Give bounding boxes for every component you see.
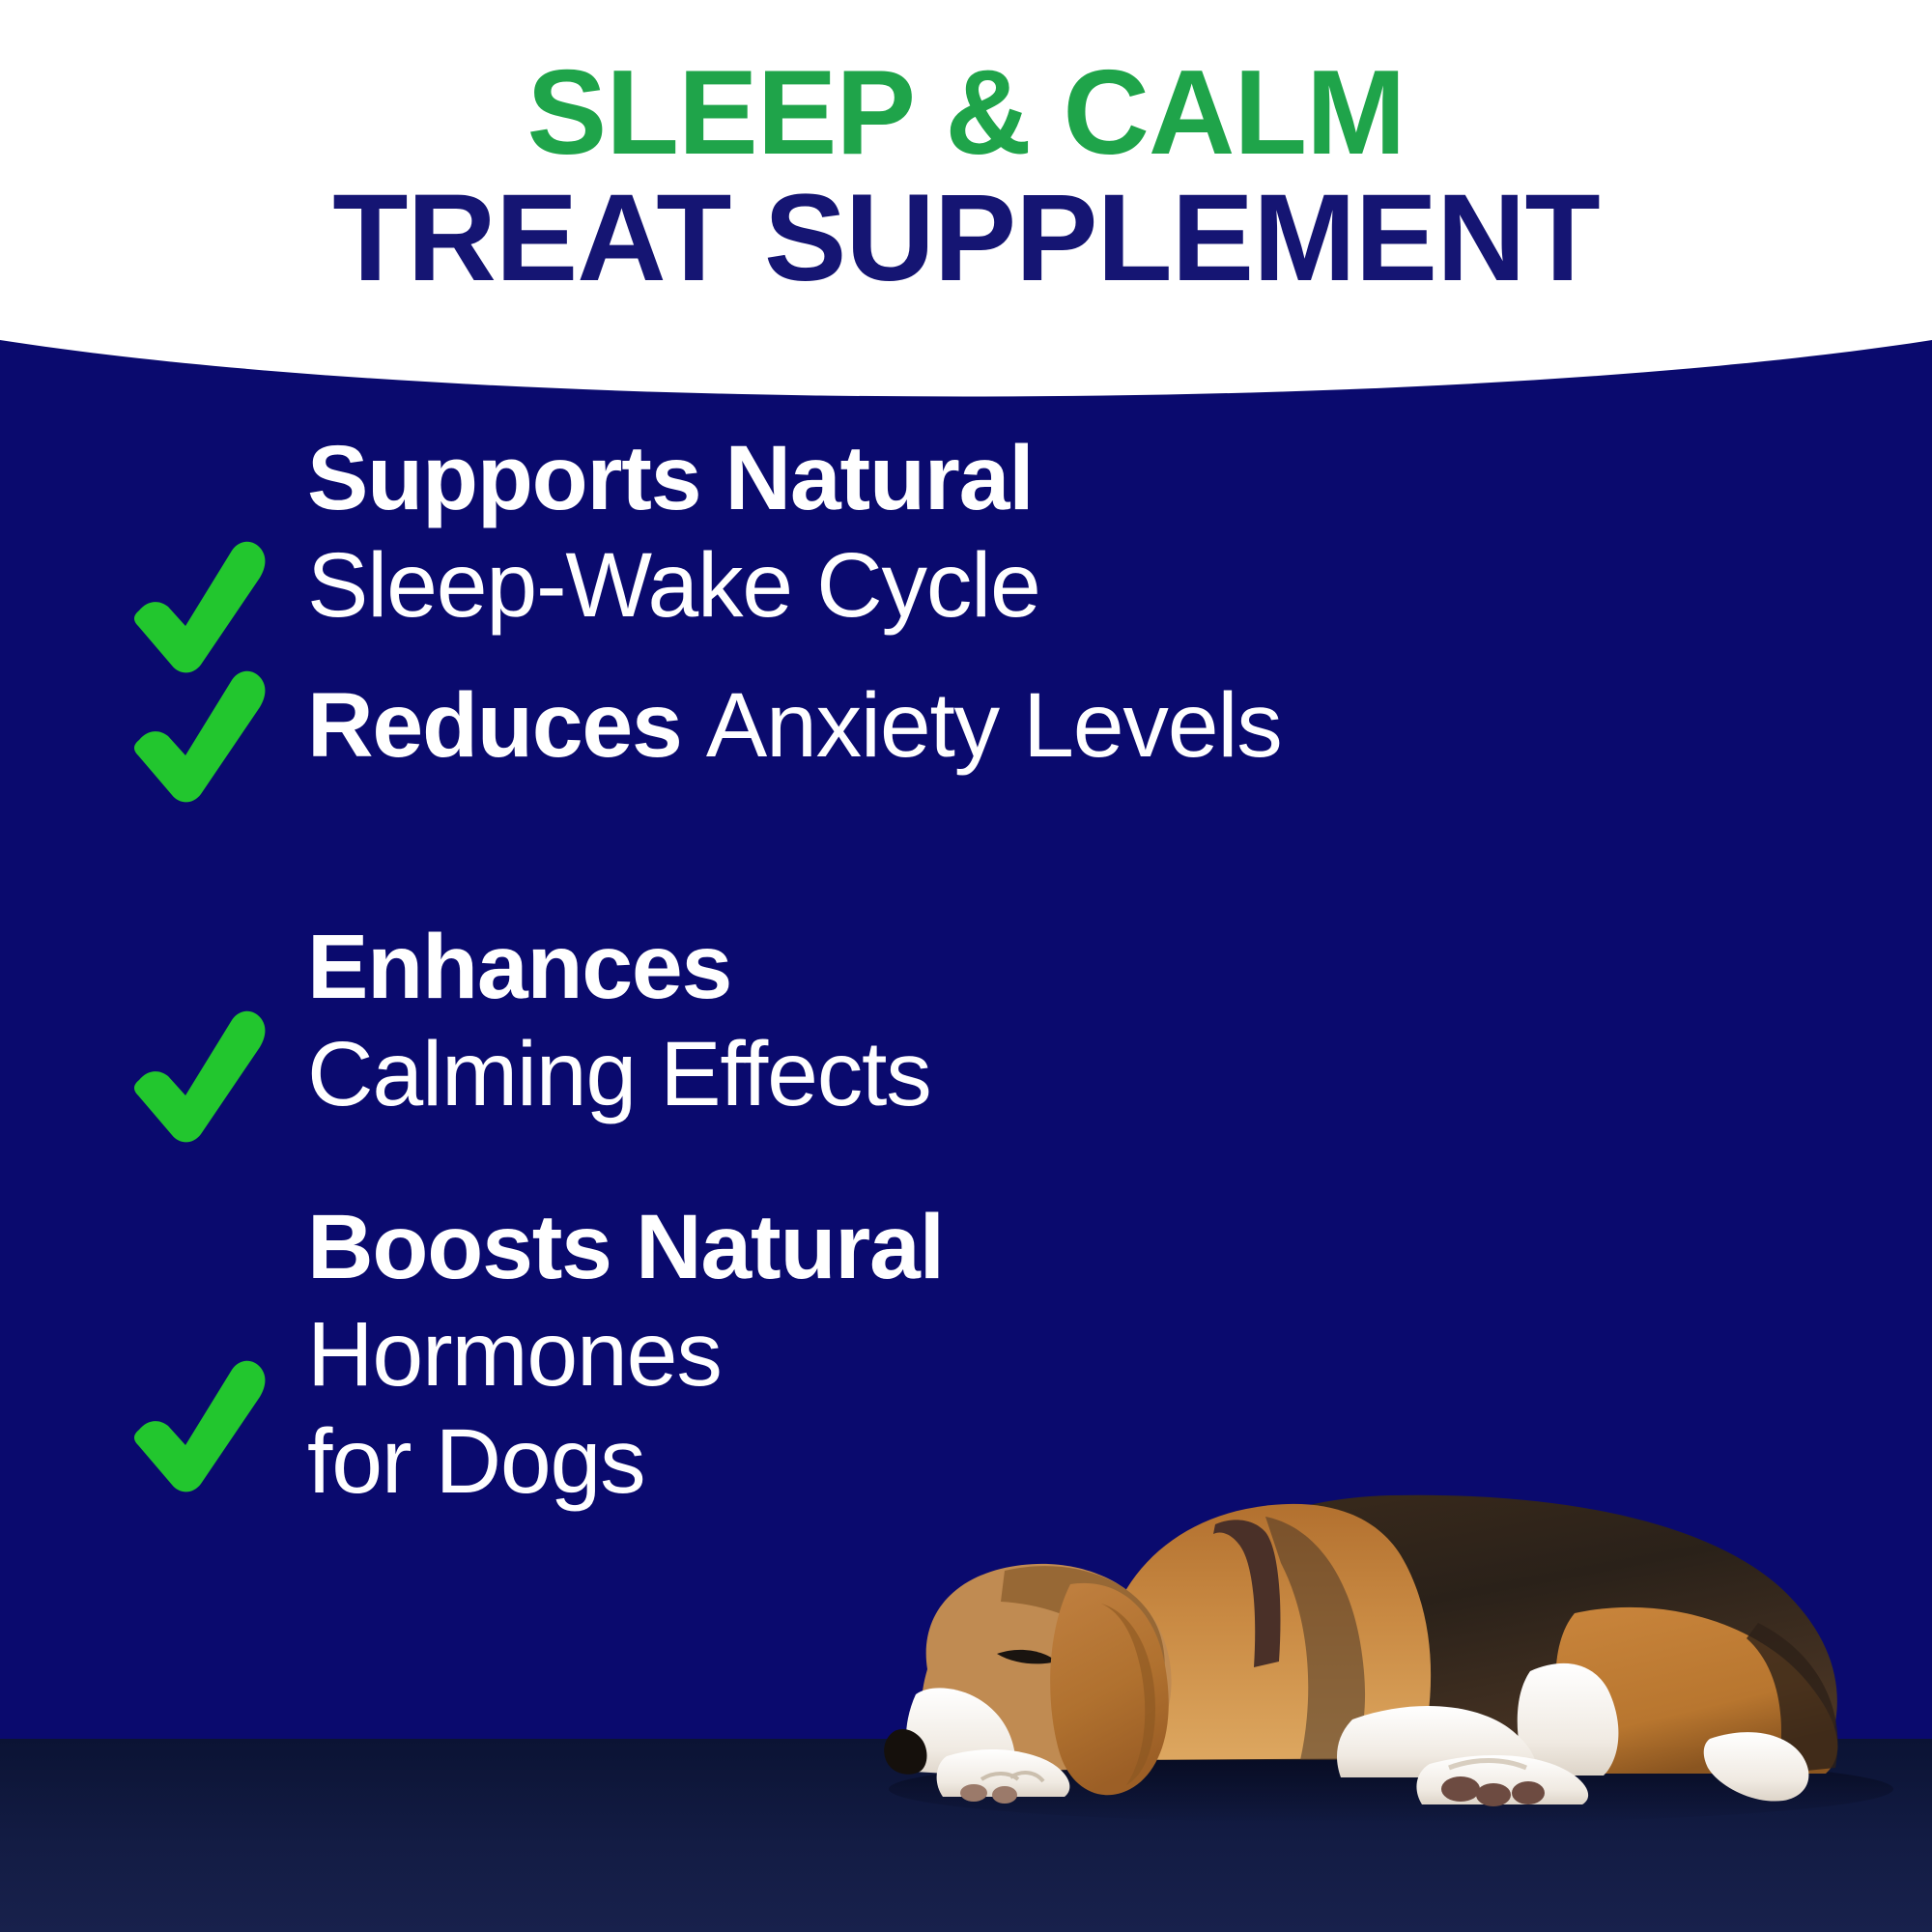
benefit-line: Supports Natural [307,425,1546,532]
checkmark-icon [126,659,270,804]
benefit-item: Enhances Calming Effects [0,914,1546,1136]
benefit-text: Boosts Natural Hormones for Dogs [307,1194,1546,1516]
benefit-line: Calming Effects [307,1021,1546,1128]
benefit-emphasis: Reduces [307,674,706,777]
page-title-secondary: TREAT SUPPLEMENT [0,177,1932,300]
checkmark-icon [126,529,270,674]
benefit-line: Boosts Natural [307,1194,1546,1301]
benefit-text: Supports Natural Sleep-Wake Cycle [307,425,1546,639]
benefit-rest: Anxiety Levels [706,674,1282,777]
benefit-text: Reduces Anxiety Levels [307,672,1546,780]
benefit-line: Enhances [307,914,1546,1021]
page-title-primary: SLEEP & CALM [0,53,1932,173]
benefit-line: Sleep-Wake Cycle [307,532,1546,639]
checkmark-icon [126,1349,270,1493]
benefit-line: Hormones [307,1301,1546,1408]
benefit-item: Reduces Anxiety Levels [0,672,1546,817]
benefit-item: Boosts Natural Hormones for Dogs [0,1194,1546,1522]
benefits-list: Supports Natural Sleep-Wake Cycle Reduce… [0,425,1546,1522]
benefit-line: for Dogs [307,1408,1546,1516]
product-benefits-poster: SLEEP & CALM TREAT SUPPLEMENT Supports N… [0,0,1932,1932]
checkmark-icon [126,999,270,1144]
benefit-item: Supports Natural Sleep-Wake Cycle [0,425,1546,628]
benefit-text: Enhances Calming Effects [307,914,1546,1128]
benefit-line: Reduces Anxiety Levels [307,672,1546,780]
